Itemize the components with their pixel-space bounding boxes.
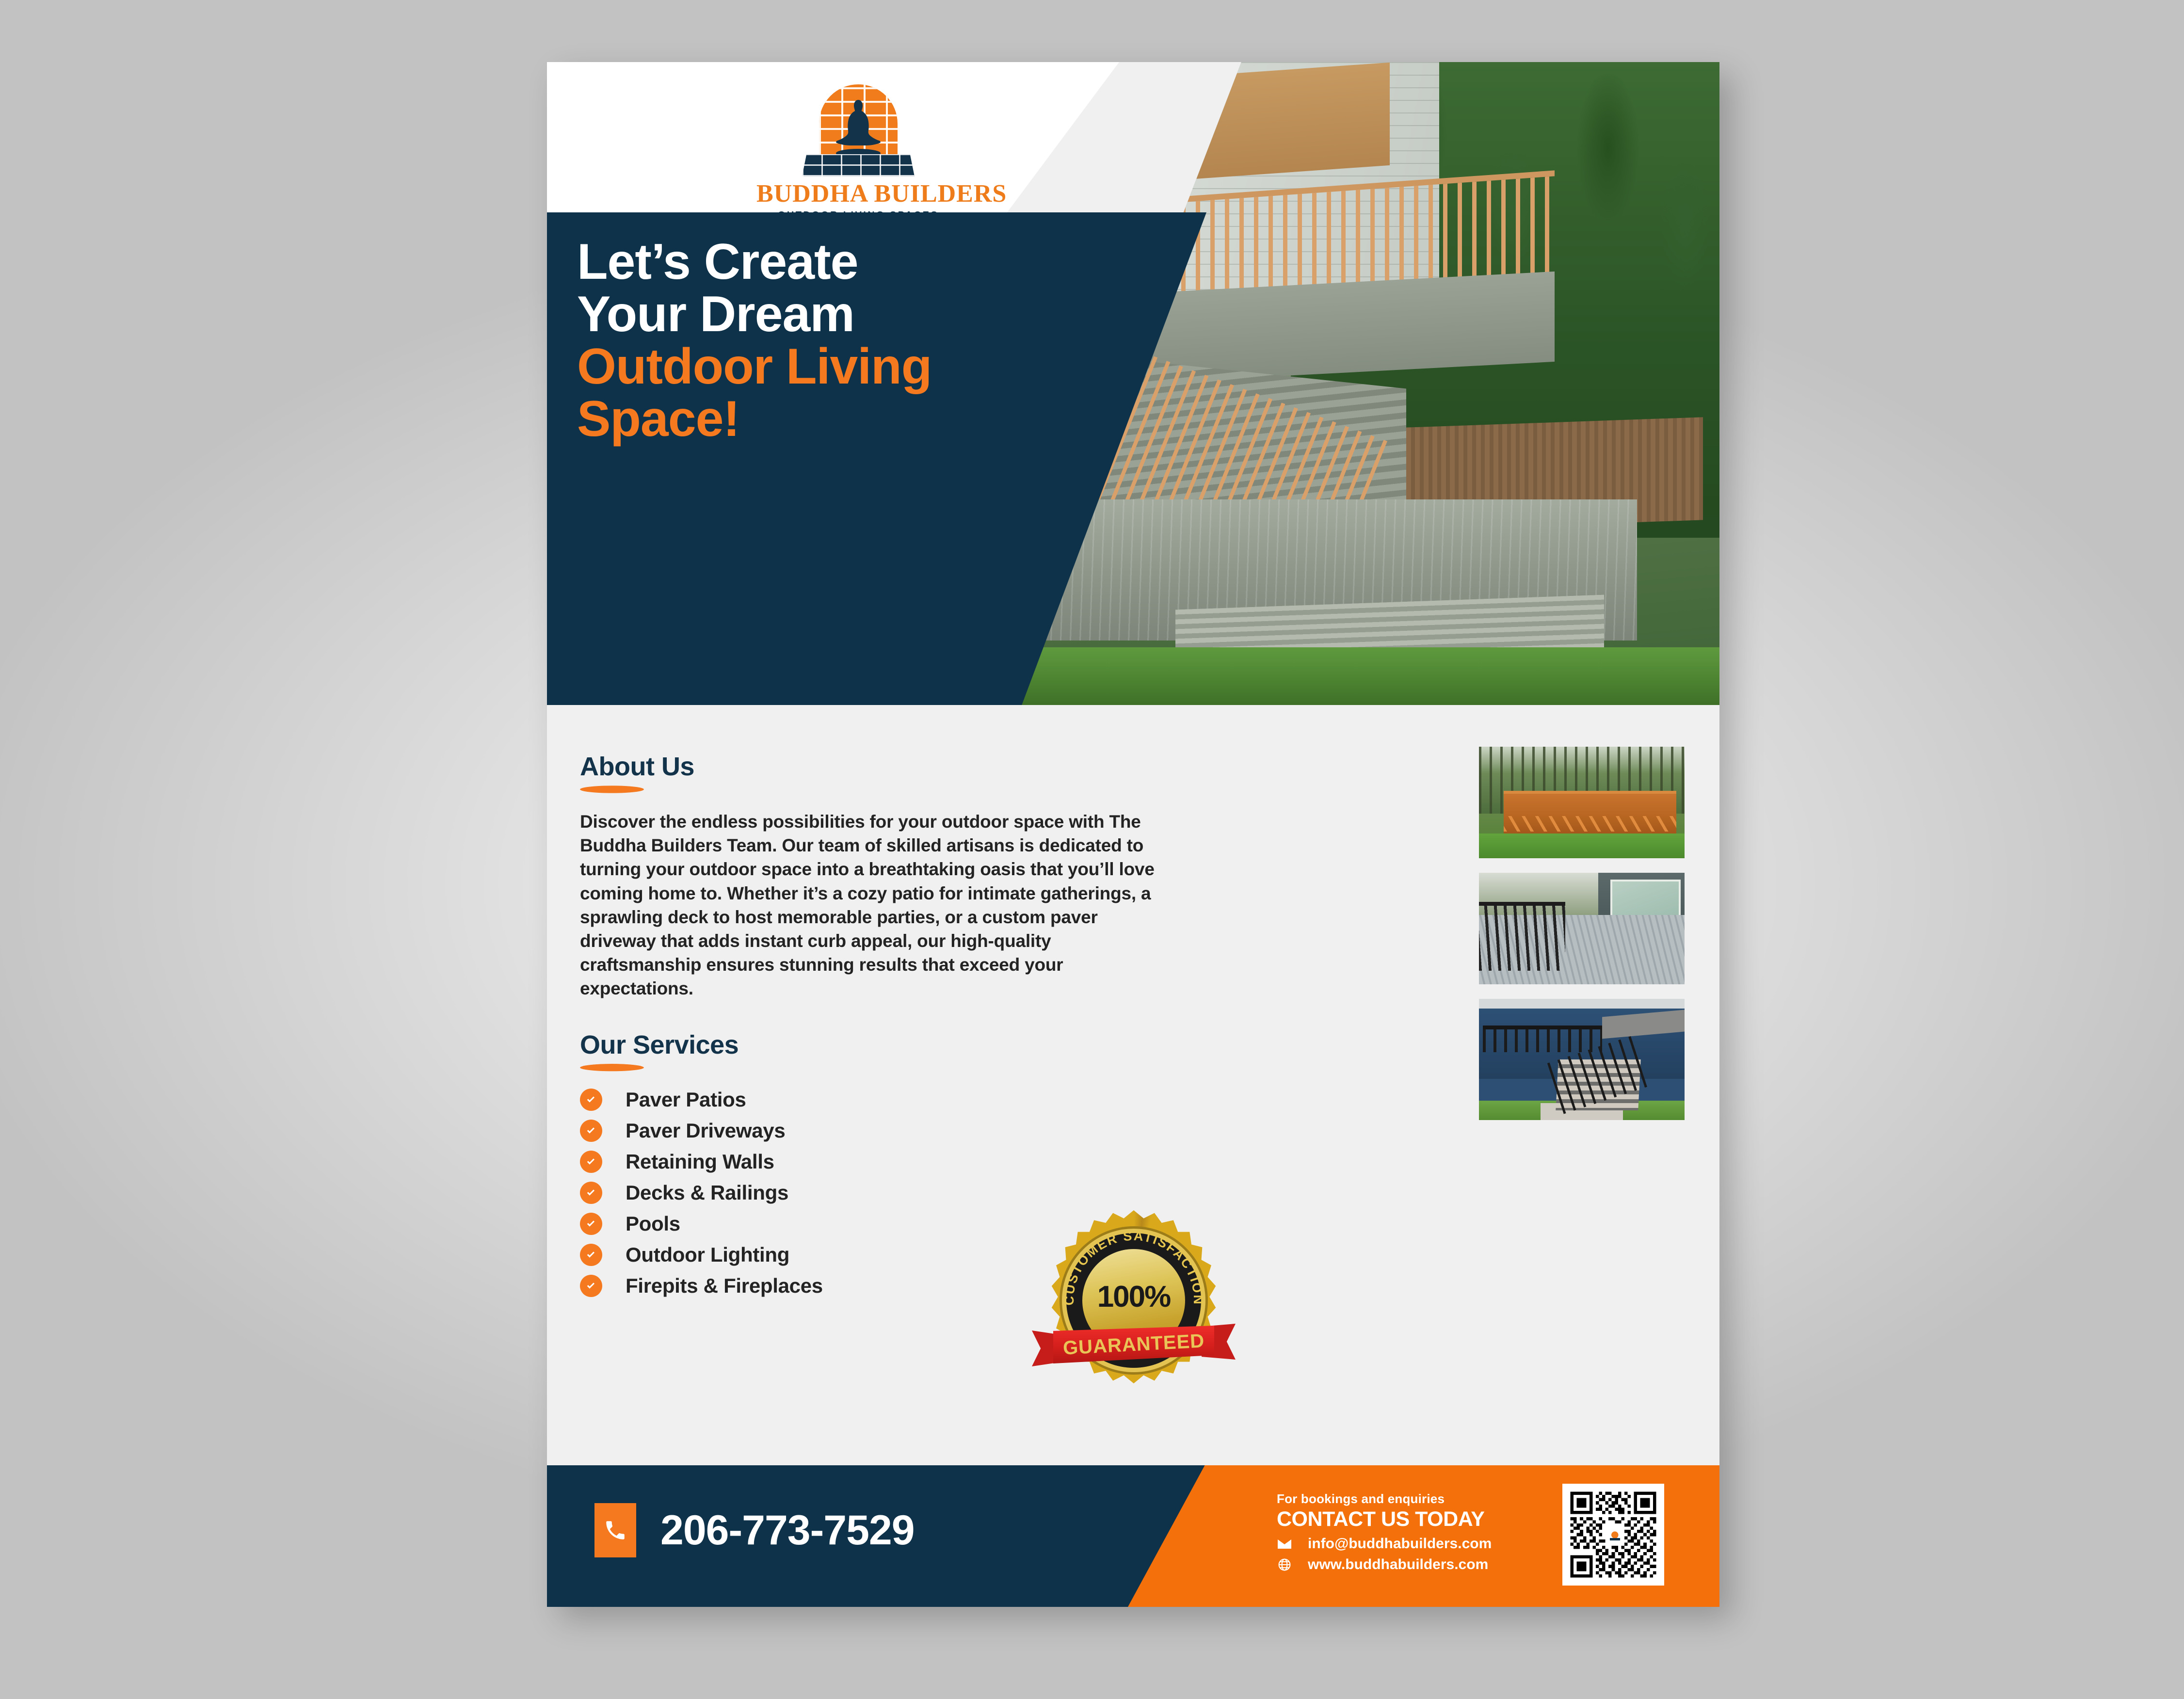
- hero-headline: Let’s Create Your Dream Outdoor Living S…: [577, 236, 1081, 446]
- body-section: About Us Discover the endless possibilit…: [547, 705, 1719, 1465]
- website-text[interactable]: www.buddhabuilders.com: [1308, 1556, 1488, 1573]
- thumb3-deck-railing: [1483, 1026, 1602, 1052]
- gallery-image-1: [1479, 747, 1685, 858]
- envelope-icon: [1277, 1537, 1297, 1551]
- service-label: Outdoor Lighting: [626, 1243, 789, 1266]
- brand-name: BUDDHA BUILDERS: [756, 179, 960, 208]
- qr-code-icon: [1567, 1489, 1659, 1581]
- about-body-text: Discover the endless possibilities for y…: [580, 810, 1157, 1001]
- globe-icon: [1277, 1557, 1297, 1572]
- buddha-brick-arch-icon: [795, 84, 921, 176]
- website-line[interactable]: www.buddhabuilders.com: [1277, 1556, 1529, 1573]
- service-label: Paver Driveways: [626, 1119, 785, 1142]
- heading-underline: [580, 785, 644, 793]
- flyer-page: BUDDHA BUILDERS OUTDOOR LIVING SPACES Le…: [547, 62, 1719, 1607]
- buddha-silhouette-icon: [833, 99, 883, 162]
- check-circle-icon: [580, 1151, 602, 1173]
- badge-percent: 100%: [1097, 1280, 1171, 1314]
- service-label: Pools: [626, 1212, 680, 1235]
- list-item: Retaining Walls: [580, 1150, 1196, 1173]
- list-item: Decks & Railings: [580, 1181, 1196, 1204]
- about-heading: About Us: [580, 752, 694, 782]
- brand-logo: BUDDHA BUILDERS OUTDOOR LIVING SPACES: [756, 84, 960, 230]
- list-item: Paver Driveways: [580, 1119, 1196, 1142]
- email-text[interactable]: info@buddhabuilders.com: [1308, 1536, 1492, 1552]
- thumb2-black-railing: [1479, 902, 1565, 971]
- check-circle-icon: [580, 1182, 602, 1204]
- contact-pretitle: For bookings and enquiries: [1277, 1491, 1529, 1507]
- service-label: Firepits & Fireplaces: [626, 1274, 823, 1298]
- service-label: Decks & Railings: [626, 1181, 788, 1204]
- brick-base-icon: [802, 154, 915, 176]
- check-circle-icon: [580, 1213, 602, 1235]
- services-heading: Our Services: [580, 1030, 739, 1060]
- service-label: Paver Patios: [626, 1088, 746, 1111]
- contact-title: CONTACT US TODAY: [1277, 1507, 1529, 1531]
- headline-accent-1: Outdoor Living: [577, 340, 1081, 393]
- headline-line-1: Let’s Create: [577, 234, 858, 290]
- about-block: About Us Discover the endless possibilit…: [580, 752, 1196, 1001]
- headline-line-2: Your Dream: [577, 286, 854, 342]
- badge-ribbon: GUARANTEED: [1032, 1321, 1236, 1371]
- qr-code[interactable]: [1562, 1484, 1664, 1586]
- thumb1-lawn: [1479, 833, 1685, 858]
- gallery-image-2: [1479, 873, 1685, 984]
- contact-block: For bookings and enquiries CONTACT US TO…: [1277, 1491, 1529, 1573]
- service-label: Retaining Walls: [626, 1150, 774, 1173]
- ribbon-label: GUARANTEED: [1062, 1330, 1205, 1359]
- list-item: Paver Patios: [580, 1088, 1196, 1111]
- check-circle-icon: [580, 1244, 602, 1266]
- check-circle-icon: [580, 1275, 602, 1297]
- guarantee-badge: CUSTOMER SATISFACTION 100% GUARANTEED: [1032, 1206, 1236, 1400]
- phone-number[interactable]: 206-773-7529: [660, 1507, 915, 1555]
- headline-accent-2: Space!: [577, 393, 1081, 445]
- check-circle-icon: [580, 1120, 602, 1142]
- heading-underline: [580, 1064, 644, 1072]
- gallery-image-3: [1479, 999, 1685, 1120]
- phone-icon: [594, 1503, 636, 1557]
- hero-section: BUDDHA BUILDERS OUTDOOR LIVING SPACES Le…: [547, 62, 1719, 705]
- ribbon-body: GUARANTEED: [1053, 1326, 1214, 1363]
- footer-bar: 206-773-7529 For bookings and enquiries …: [547, 1465, 1719, 1607]
- check-circle-icon: [580, 1089, 602, 1111]
- email-line[interactable]: info@buddhabuilders.com: [1277, 1536, 1529, 1552]
- phone-block[interactable]: 206-773-7529: [594, 1503, 915, 1557]
- thumb1-railing: [1504, 816, 1676, 832]
